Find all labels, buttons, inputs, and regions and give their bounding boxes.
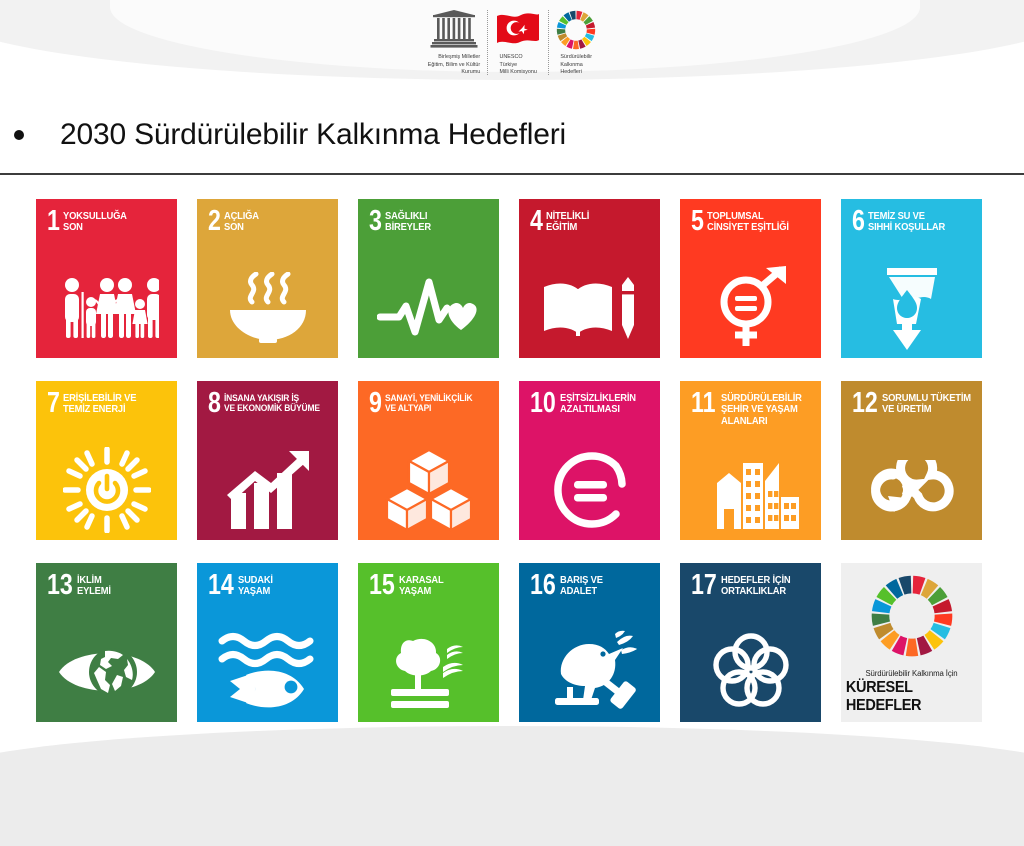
sdg-goal-grid: 1YOKSULLUĞA SON 2AÇLIĞA SON 3SAĞLIKLI Bİ… — [36, 199, 984, 722]
title-bullet-icon — [14, 130, 24, 140]
goal-number: 11 — [691, 392, 715, 416]
interlocking-rings-icon — [680, 628, 821, 716]
goal-header: 8İNSANA YAKIŞIR İŞ VE EKONOMİK BÜYÜME — [197, 381, 338, 416]
sdg-goal-card-12[interactable]: 12SORUMLU TÜKETİM VE ÜRETİM — [841, 381, 982, 540]
goal-number: 9 — [369, 392, 382, 416]
goal-label: AÇLIĞA SON — [224, 211, 259, 234]
sdg-goal-card-5[interactable]: 5TOPLUMSAL CİNSİYET EŞİTLİĞİ — [680, 199, 821, 358]
unesco-logo-caption: Birleşmiş Milletler Eğitim, Bilim ve Kül… — [428, 54, 480, 77]
goal-number: 13 — [47, 574, 71, 598]
unesco-logo-block: Birleşmiş Milletler Eğitim, Bilim ve Kül… — [421, 8, 487, 77]
page-title-row: 2030 Sürdürülebilir Kalkınma Hedefleri — [0, 118, 1024, 152]
goal-header: 4NİTELİKLİ EĞİTİM — [519, 199, 660, 234]
goal-label: SÜRDÜRÜLEBİLİR ŞEHİR VE YAŞAM ALANLARI — [721, 393, 802, 427]
goal-label: BARIŞ VE ADALET — [560, 575, 603, 598]
sdg-wheel-logo-block: Sürdürülebilir Kalkınma Hedefleri — [549, 8, 603, 77]
goal-header: 3SAĞLIKLI BİREYLER — [358, 199, 499, 234]
goal-label: İNSANA YAKIŞIR İŞ VE EKONOMİK BÜYÜME — [224, 393, 320, 414]
sdg-goal-card-14[interactable]: 14SUDAKİ YAŞAM — [197, 563, 338, 722]
sdg-goal-card-13[interactable]: 13İKLİM EYLEMİ — [36, 563, 177, 722]
sdg-goal-card-2[interactable]: 2AÇLIĞA SON — [197, 199, 338, 358]
sdg-wheel-logo-caption: Sürdürülebilir Kalkınma Hedefleri — [560, 54, 592, 77]
goal-header: 9SANAYİ, YENİLİKÇİLİK VE ALTYAPI — [358, 381, 499, 416]
sun-power-icon — [36, 446, 177, 534]
turkey-flag-logo-caption: UNESCO Türkiye Milli Komisyonu — [499, 54, 536, 77]
goal-header: 15KARASAL YAŞAM — [358, 563, 499, 598]
goal-label: YOKSULLUĞA SON — [63, 211, 127, 234]
global-goals-logo-card[interactable]: Sürdürülebilir Kalkınma İçinKÜRESEL HEDE… — [841, 563, 982, 722]
goal-header: 12SORUMLU TÜKETİM VE ÜRETİM — [841, 381, 982, 416]
goal-header: 2AÇLIĞA SON — [197, 199, 338, 234]
goal-label: SANAYİ, YENİLİKÇİLİK VE ALTYAPI — [385, 393, 472, 414]
unesco-temple-icon — [430, 8, 478, 50]
tree-birds-icon — [358, 628, 499, 716]
sdg-goal-card-7[interactable]: 7ERİŞİLEBİLİR VE TEMİZ ENERJİ — [36, 381, 177, 540]
family-icon — [36, 264, 177, 352]
goal-label: İKLİM EYLEMİ — [77, 575, 111, 598]
slide-bottom-decoration — [0, 726, 1024, 846]
goal-header: 13İKLİM EYLEMİ — [36, 563, 177, 598]
steaming-bowl-icon — [197, 264, 338, 352]
fish-waves-icon — [197, 628, 338, 716]
goal-number: 1 — [47, 210, 60, 234]
book-pencil-icon — [519, 264, 660, 352]
goal-header: 10EŞİTSİZLİKLERİN AZALTILMASI — [519, 381, 660, 416]
sdg-wheel-icon — [556, 8, 596, 50]
goal-number: 7 — [47, 392, 60, 416]
cubes-icon — [358, 446, 499, 534]
sdg-goal-card-6[interactable]: 6TEMİZ SU VE SIHHİ KOŞULLAR — [841, 199, 982, 358]
goal-number: 3 — [369, 210, 382, 234]
sdg-goal-card-15[interactable]: 15KARASAL YAŞAM — [358, 563, 499, 722]
sdg-goal-card-1[interactable]: 1YOKSULLUĞA SON — [36, 199, 177, 358]
sdg-wheel-icon-large — [870, 574, 954, 663]
goal-header: 17HEDEFLER İÇİN ORTAKLIKLAR — [680, 563, 821, 598]
goal-label: SAĞLIKLI BİREYLER — [385, 211, 431, 234]
goal-header: 14SUDAKİ YAŞAM — [197, 563, 338, 598]
sdg-goal-card-16[interactable]: 16BARIŞ VE ADALET — [519, 563, 660, 722]
goal-header: 11SÜRDÜRÜLEBİLİR ŞEHİR VE YAŞAM ALANLARI — [680, 381, 821, 427]
sdg-goal-card-8[interactable]: 8İNSANA YAKIŞIR İŞ VE EKONOMİK BÜYÜME — [197, 381, 338, 540]
goal-header: 1YOKSULLUĞA SON — [36, 199, 177, 234]
goal-number: 2 — [208, 210, 221, 234]
goal-number: 12 — [852, 392, 876, 416]
water-glass-icon — [841, 264, 982, 352]
sdg-goal-card-9[interactable]: 9SANAYİ, YENİLİKÇİLİK VE ALTYAPI — [358, 381, 499, 540]
goal-number: 10 — [530, 392, 554, 416]
goal-number: 5 — [691, 210, 704, 234]
sdg-goal-card-4[interactable]: 4NİTELİKLİ EĞİTİM — [519, 199, 660, 358]
growth-chart-icon — [197, 446, 338, 534]
goal-number: 17 — [691, 574, 715, 598]
city-buildings-icon — [680, 450, 821, 538]
goal-header: 7ERİŞİLEBİLİR VE TEMİZ ENERJİ — [36, 381, 177, 416]
global-goals-title: KÜRESEL HEDEFLER — [846, 679, 977, 715]
goal-label: TOPLUMSAL CİNSİYET EŞİTLİĞİ — [707, 211, 789, 234]
goal-number: 6 — [852, 210, 865, 234]
sdg-goal-card-17[interactable]: 17HEDEFLER İÇİN ORTAKLIKLAR — [680, 563, 821, 722]
goal-header: 5TOPLUMSAL CİNSİYET EŞİTLİĞİ — [680, 199, 821, 234]
goal-number: 4 — [530, 210, 543, 234]
infinity-loop-icon — [841, 446, 982, 534]
page-title: 2030 Sürdürülebilir Kalkınma Hedefleri — [60, 118, 566, 152]
gender-equality-icon — [680, 264, 821, 352]
goal-label: SORUMLU TÜKETİM VE ÜRETİM — [882, 393, 971, 416]
dove-gavel-icon — [519, 628, 660, 716]
turkey-flag-icon — [495, 8, 541, 50]
header-logo-strip: Birleşmiş Milletler Eğitim, Bilim ve Kül… — [0, 8, 1024, 77]
goal-number: 16 — [530, 574, 554, 598]
turkey-flag-logo-block: UNESCO Türkiye Milli Komisyonu — [488, 8, 548, 77]
goal-label: NİTELİKLİ EĞİTİM — [546, 211, 589, 234]
goal-number: 8 — [208, 392, 221, 416]
sdg-goal-card-3[interactable]: 3SAĞLIKLI BİREYLER — [358, 199, 499, 358]
global-goals-subtitle: Sürdürülebilir Kalkınma İçin — [865, 669, 957, 678]
goal-label: TEMİZ SU VE SIHHİ KOŞULLAR — [868, 211, 945, 234]
goal-label: HEDEFLER İÇİN ORTAKLIKLAR — [721, 575, 790, 598]
sdg-goal-card-10[interactable]: 10EŞİTSİZLİKLERİN AZALTILMASI — [519, 381, 660, 540]
goal-number: 15 — [369, 574, 393, 598]
equal-circle-icon — [519, 446, 660, 534]
heartbeat-icon — [358, 264, 499, 352]
goal-label: KARASAL YAŞAM — [399, 575, 444, 598]
climate-eye-icon — [36, 628, 177, 716]
goal-header: 16BARIŞ VE ADALET — [519, 563, 660, 598]
goal-header: 6TEMİZ SU VE SIHHİ KOŞULLAR — [841, 199, 982, 234]
goal-number: 14 — [208, 574, 232, 598]
sdg-goal-card-11[interactable]: 11SÜRDÜRÜLEBİLİR ŞEHİR VE YAŞAM ALANLARI — [680, 381, 821, 540]
goal-label: SUDAKİ YAŞAM — [238, 575, 273, 598]
title-divider-rule — [0, 173, 1024, 175]
goal-label: EŞİTSİZLİKLERİN AZALTILMASI — [560, 393, 636, 416]
goal-label: ERİŞİLEBİLİR VE TEMİZ ENERJİ — [63, 393, 136, 416]
